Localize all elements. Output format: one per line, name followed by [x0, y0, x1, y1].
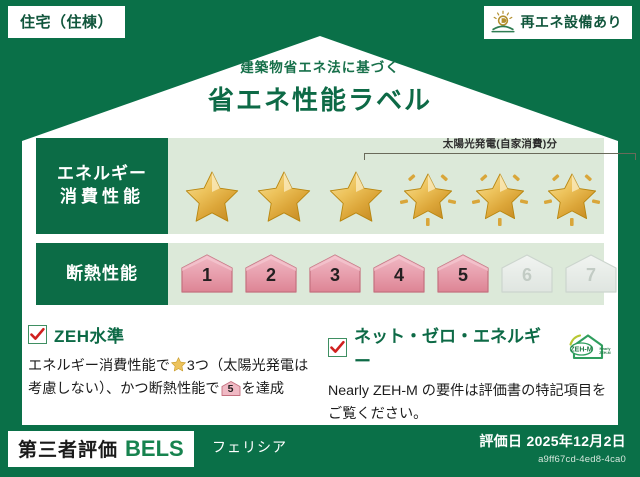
insulation-levels-area: 1 2 3 — [168, 243, 626, 305]
zeh-standard-title: ZEH水準 — [54, 322, 125, 347]
metrics-section: エネルギー 消費性能 太陽光発電(自家消費)分 — [36, 138, 604, 314]
insulation-level-5: 5 — [434, 252, 492, 296]
zeh-body-part3: を達成 — [242, 381, 285, 397]
evaluation-date-value: 2025年12月2日 — [526, 433, 626, 449]
insulation-level-1-number: 1 — [178, 266, 236, 284]
insulation-level-6: 6 — [498, 252, 556, 296]
dwelling-type-tag: 住宅（住棟） — [8, 6, 125, 38]
insulation-level-7-number: 7 — [562, 266, 620, 284]
footer-bar: 第三者評価 BELS フェリシア 評価日 2025年12月2日 a9ff67cd… — [0, 425, 640, 477]
star-rating — [168, 138, 612, 234]
bels-jp-label: 第三者評価 — [18, 435, 118, 462]
energy-stars-area: 太陽光発電(自家消費)分 — [168, 138, 612, 234]
evaluation-info: 評価日 2025年12月2日 a9ff67cd-4ed8-4ca0 — [479, 431, 626, 465]
insulation-level-3: 3 — [306, 252, 364, 296]
renewable-badge-label: 再エネ設備あり — [521, 12, 623, 32]
bels-badge: 第三者評価 BELS — [8, 431, 194, 467]
net-zero-energy-title: ネット・ゼロ・エネルギー — [354, 322, 555, 372]
star-3 — [322, 162, 390, 228]
star-6-solar — [538, 162, 606, 228]
energy-performance-row: エネルギー 消費性能 太陽光発電(自家消費)分 — [36, 138, 604, 234]
svg-text:ZEH-M: ZEH-M — [599, 351, 610, 355]
energy-performance-label: 住宅（住棟） 再エネ設備あり 建築物省エネ法に基づく 省エネ性能ラベル — [0, 0, 640, 477]
star-4-solar — [394, 162, 462, 228]
energy-performance-label-key: エネルギー 消費性能 — [36, 138, 168, 234]
insulation-level-5-number: 5 — [434, 266, 492, 284]
insulation-level-2-number: 2 — [242, 266, 300, 284]
zeh-body-part1: エネルギー消費性能で — [28, 358, 170, 374]
net-zero-energy-body: Nearly ZEH-M の要件は評価書の特記項目をご覧ください。 — [328, 380, 612, 426]
insulation-performance-row: 断熱性能 1 — [36, 243, 604, 305]
notes-section: ZEH水準 エネルギー消費性能で3つ（太陽光発電は考慮しない）、かつ断熱性能で5… — [28, 322, 612, 426]
insulation-level-1: 1 — [178, 252, 236, 296]
title-main: 省エネ性能ラベル — [0, 80, 640, 117]
star-1 — [178, 162, 246, 228]
net-zero-energy-checkbox[interactable] — [328, 338, 347, 357]
insulation-level-2: 2 — [242, 252, 300, 296]
insulation-key-text: 断熱性能 — [66, 263, 138, 286]
star-5-solar — [466, 162, 534, 228]
zeh-standard-body: エネルギー消費性能で3つ（太陽光発電は考慮しない）、かつ断熱性能で5を達成 — [28, 355, 312, 401]
insulation-performance-label-key: 断熱性能 — [36, 243, 168, 305]
sun-solar-icon — [490, 10, 516, 34]
insulation-level-4: 4 — [370, 252, 428, 296]
zeh-standard-checkbox[interactable] — [28, 325, 47, 344]
net-zero-energy-head: ネット・ゼロ・エネルギー ZEH-M Nearly ZEH-M — [328, 322, 612, 372]
renewable-equipment-badge: 再エネ設備あり — [484, 6, 633, 39]
evaluation-id: a9ff67cd-4ed8-4ca0 — [479, 454, 626, 465]
title-block: 建築物省エネ法に基づく 省エネ性能ラベル — [0, 56, 640, 117]
energy-key-line1: エネルギー — [57, 163, 147, 186]
zeh-standard-head: ZEH水準 — [28, 322, 312, 347]
insulation-level-scale: 1 2 3 — [168, 243, 626, 305]
net-zero-energy-note: ネット・ゼロ・エネルギー ZEH-M Nearly ZEH-M Nearly Z… — [328, 322, 612, 426]
insulation-level-4-number: 4 — [370, 266, 428, 284]
evaluation-date: 評価日 2025年12月2日 — [479, 431, 626, 451]
svg-text:ZEH-M: ZEH-M — [570, 346, 592, 353]
star-2 — [250, 162, 318, 228]
insulation-level-6-number: 6 — [498, 266, 556, 284]
inline-badge-number: 5 — [220, 384, 242, 395]
inline-star-icon — [170, 356, 187, 373]
zeh-m-logo-icon: ZEH-M Nearly ZEH-M — [562, 332, 612, 362]
company-name: フェリシア — [212, 437, 287, 457]
bels-en-label: BELS — [125, 436, 184, 462]
zeh-standard-note: ZEH水準 エネルギー消費性能で3つ（太陽光発電は考慮しない）、かつ断熱性能で5… — [28, 322, 312, 426]
title-subtitle: 建築物省エネ法に基づく — [0, 56, 640, 76]
insulation-level-3-number: 3 — [306, 266, 364, 284]
inline-insulation-badge-icon: 5 — [220, 380, 242, 397]
evaluation-date-label: 評価日 — [479, 433, 522, 449]
insulation-level-7: 7 — [562, 252, 620, 296]
energy-key-line2: 消費性能 — [60, 186, 144, 209]
